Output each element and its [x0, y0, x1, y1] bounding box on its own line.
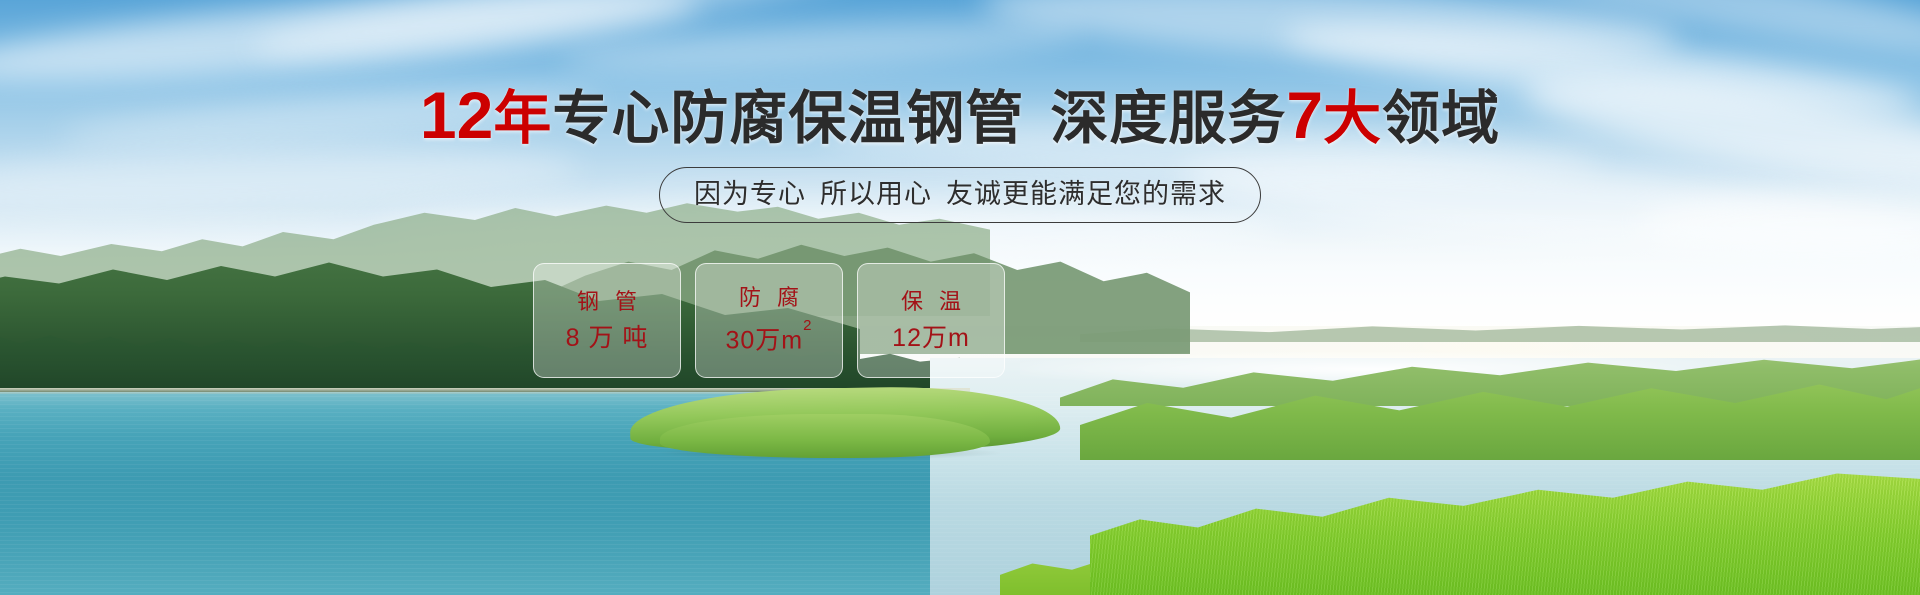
stat-card-value-main: 8 万 吨	[566, 324, 649, 352]
stat-card-group: 钢 管 8 万 吨 防 腐 30万m2 保 温 12万m	[533, 263, 1005, 378]
stat-card-value: 30万m2	[726, 321, 813, 354]
stat-card-steel-pipe[interactable]: 钢 管 8 万 吨	[533, 263, 681, 378]
stat-card-insulation[interactable]: 保 温 12万m	[857, 263, 1005, 378]
stat-card-anticorrosion[interactable]: 防 腐 30万m2	[695, 263, 843, 378]
stat-card-title: 防 腐	[734, 286, 804, 310]
headline-fields-word: 大	[1323, 86, 1382, 151]
stat-card-value: 12万m	[892, 325, 970, 352]
stat-card-value-main: 30万m	[726, 327, 804, 355]
stat-card-title: 保 温	[896, 290, 966, 314]
promo-banner: 12年专心防腐保温钢管深度服务7大领域 因为专心所以用心友诚更能满足您的需求 钢…	[0, 0, 1920, 595]
subtitle-pill: 因为专心所以用心友诚更能满足您的需求	[659, 167, 1261, 223]
stat-card-title: 钢 管	[572, 290, 642, 314]
stat-card-value: 8 万 吨	[566, 325, 649, 352]
subtitle-part-3: 友诚更能满足您的需求	[946, 179, 1226, 209]
headline-years-number: 12	[420, 78, 493, 152]
grass-island-fore	[660, 414, 990, 458]
subtitle-part-2: 所以用心	[820, 179, 932, 209]
headline-years-unit: 年	[493, 86, 552, 151]
headline-segment-2: 深度服务	[1050, 86, 1286, 151]
stat-card-value-superscript: 2	[803, 317, 812, 334]
headline-fields-number: 7	[1286, 78, 1323, 152]
headline-segment-3: 领域	[1382, 86, 1500, 151]
stat-card-value-main: 12万m	[892, 324, 970, 352]
banner-headline: 12年专心防腐保温钢管深度服务7大领域	[0, 84, 1920, 150]
subtitle-part-1: 因为专心	[694, 179, 806, 209]
headline-segment-1: 专心防腐保温钢管	[552, 86, 1024, 151]
